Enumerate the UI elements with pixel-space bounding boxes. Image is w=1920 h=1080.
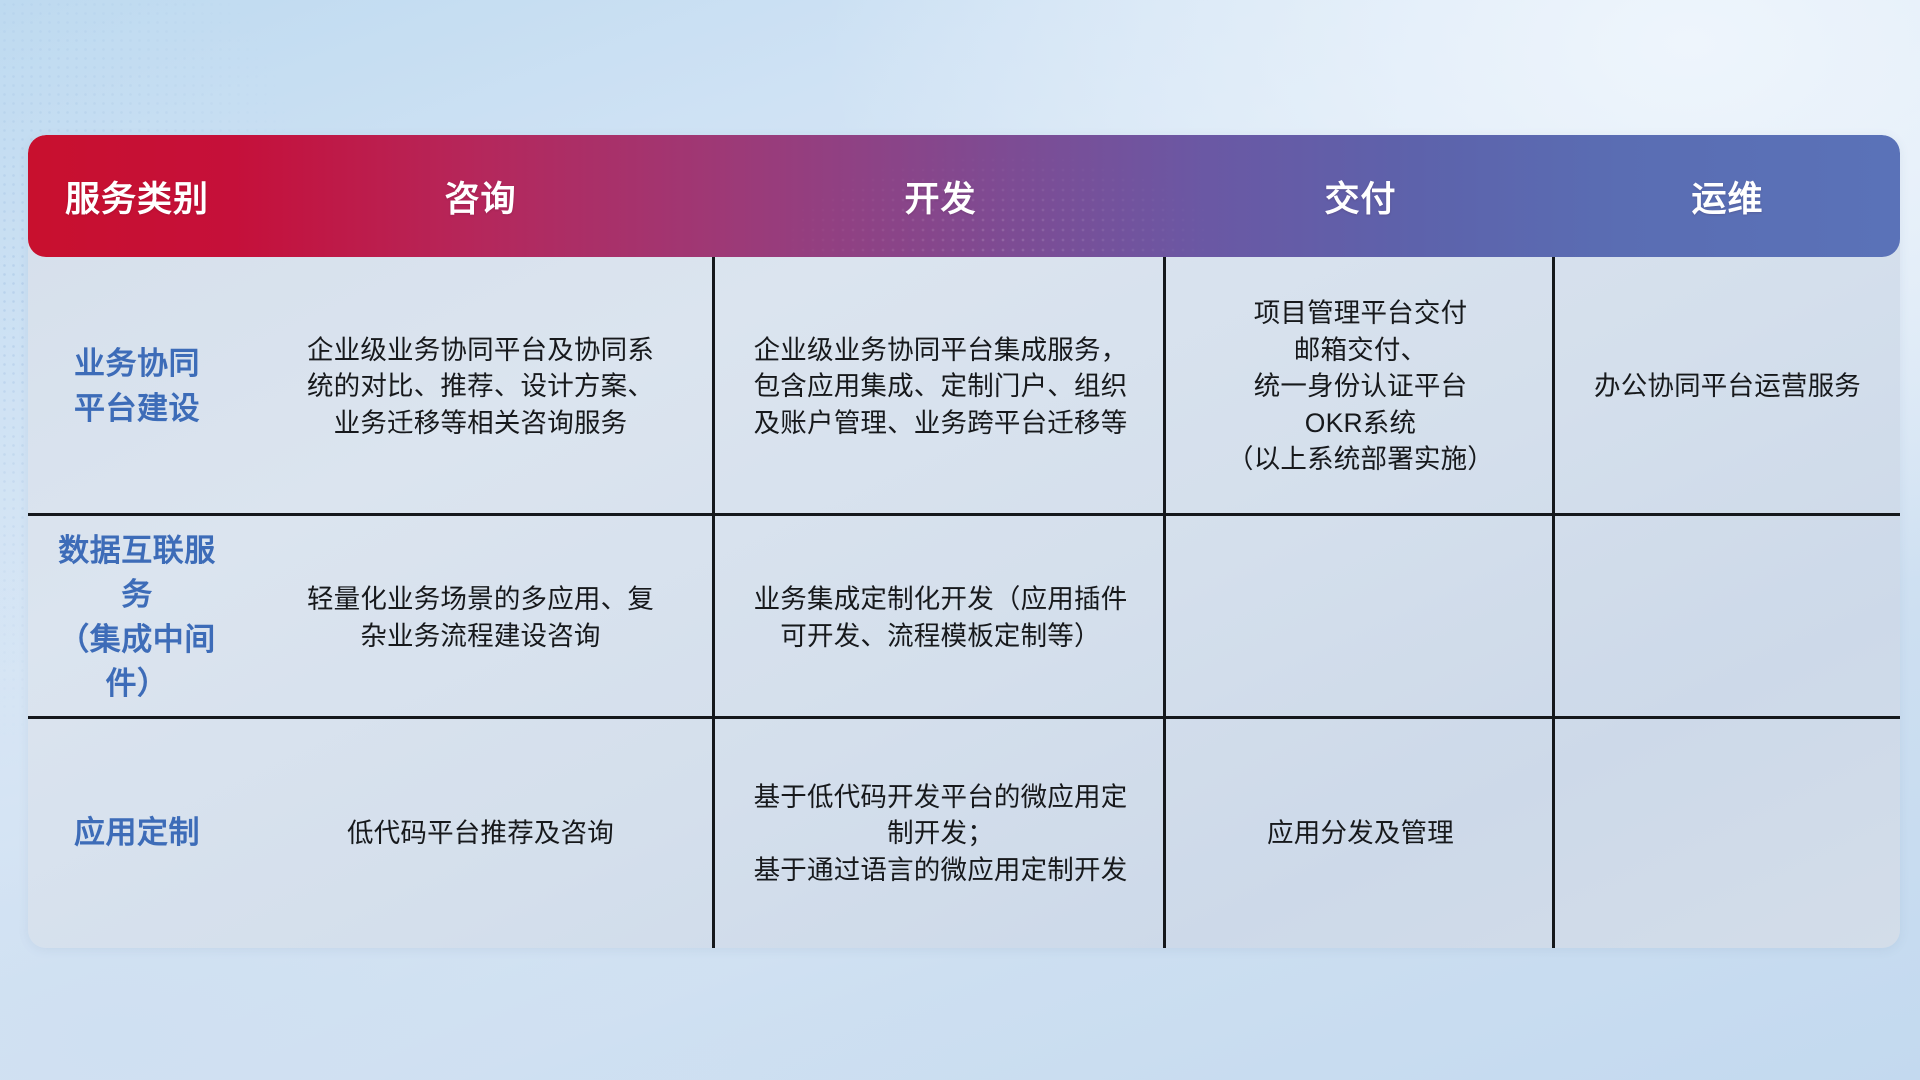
table-header-row: 服务类别 咨询 开发 交付 运维 — [28, 135, 1900, 257]
column-header-operations: 运维 — [1555, 171, 1900, 222]
cell-operations — [1555, 516, 1900, 719]
cell-operations — [1555, 719, 1900, 948]
row-label-application-customization: 应用定制 — [74, 811, 200, 855]
cell-text: 项目管理平台交付 邮箱交付、 统一身份认证平台 OKR系统 （以上系统部署实施） — [1227, 295, 1494, 478]
cell-operations: 办公协同平台运营服务 — [1555, 257, 1900, 516]
cell-development: 基于低代码开发平台的微应用定 制开发； 基于通过语言的微应用定制开发 — [715, 719, 1166, 948]
cell-text: 企业级业务协同平台集成服务， 包含应用集成、定制门户、组织 及账户管理、业务跨平… — [754, 332, 1128, 442]
column-header-delivery: 交付 — [1166, 171, 1555, 222]
cell-development: 业务集成定制化开发（应用插件 可开发、流程模板定制等） — [715, 516, 1166, 719]
table-body: 业务协同 平台建设 企业级业务协同平台及协同系 统的对比、推荐、设计方案、 业务… — [28, 257, 1900, 948]
cell-delivery: 项目管理平台交付 邮箱交付、 统一身份认证平台 OKR系统 （以上系统部署实施） — [1166, 257, 1555, 516]
cell-text: 应用分发及管理 — [1267, 815, 1454, 852]
cell-delivery — [1166, 516, 1555, 719]
service-category-table-wrapper: 服务类别 咨询 开发 交付 运维 业务协同 平台建设 企业级业务协同平台及协同系… — [28, 135, 1900, 948]
cell-consulting: 企业级业务协同平台及协同系 统的对比、推荐、设计方案、 业务迁移等相关咨询服务 — [246, 257, 715, 516]
row-label-cell: 数据互联服务 （集成中间件） — [28, 516, 246, 719]
cell-text: 业务集成定制化开发（应用插件 可开发、流程模板定制等） — [754, 581, 1128, 654]
row-label-cell: 业务协同 平台建设 — [28, 257, 246, 516]
table-row: 业务协同 平台建设 企业级业务协同平台及协同系 统的对比、推荐、设计方案、 业务… — [28, 257, 1900, 516]
row-label-cell: 应用定制 — [28, 719, 246, 948]
table-row: 数据互联服务 （集成中间件） 轻量化业务场景的多应用、复 杂业务流程建设咨询 业… — [28, 516, 1900, 719]
column-header-consulting: 咨询 — [246, 171, 715, 222]
cell-text: 企业级业务协同平台及协同系 统的对比、推荐、设计方案、 业务迁移等相关咨询服务 — [307, 332, 654, 442]
row-label-business-collaboration: 业务协同 平台建设 — [74, 342, 200, 430]
column-header-service-category: 服务类别 — [28, 171, 246, 222]
column-header-development: 开发 — [715, 171, 1166, 222]
cell-development: 企业级业务协同平台集成服务， 包含应用集成、定制门户、组织 及账户管理、业务跨平… — [715, 257, 1166, 516]
table-row: 应用定制 低代码平台推荐及咨询 基于低代码开发平台的微应用定 制开发； 基于通过… — [28, 719, 1900, 948]
cell-text: 轻量化业务场景的多应用、复 杂业务流程建设咨询 — [307, 581, 654, 654]
cell-consulting: 低代码平台推荐及咨询 — [246, 719, 715, 948]
cell-delivery: 应用分发及管理 — [1166, 719, 1555, 948]
cell-text: 低代码平台推荐及咨询 — [347, 815, 614, 852]
service-category-table: 服务类别 咨询 开发 交付 运维 业务协同 平台建设 企业级业务协同平台及协同系… — [28, 135, 1900, 948]
row-label-data-interconnection: 数据互联服务 （集成中间件） — [46, 529, 228, 705]
cell-consulting: 轻量化业务场景的多应用、复 杂业务流程建设咨询 — [246, 516, 715, 719]
cell-text: 办公协同平台运营服务 — [1594, 368, 1861, 405]
cell-text: 基于低代码开发平台的微应用定 制开发； 基于通过语言的微应用定制开发 — [754, 779, 1128, 889]
